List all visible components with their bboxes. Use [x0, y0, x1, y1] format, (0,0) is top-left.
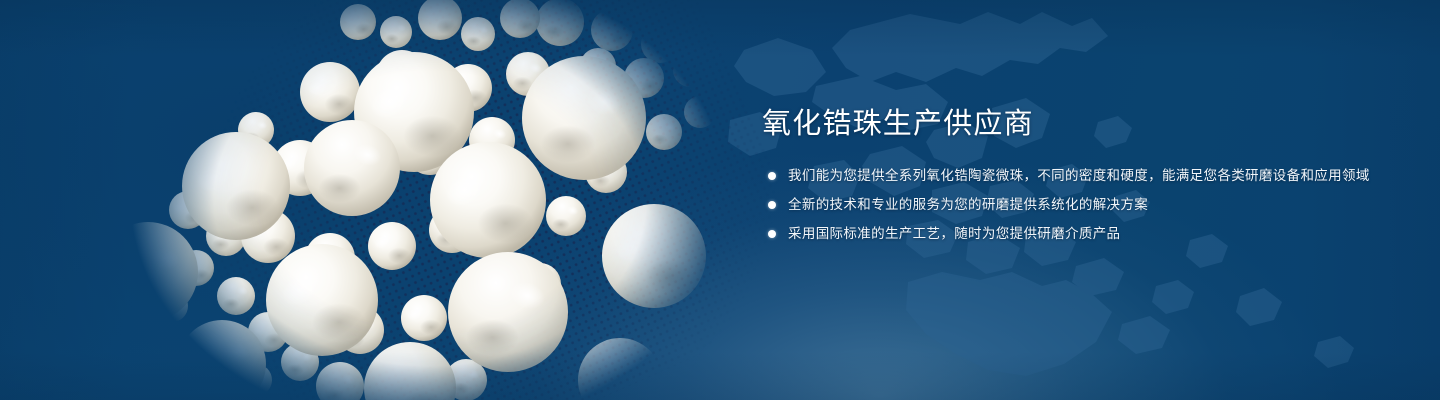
bullet-dot-icon — [768, 230, 776, 238]
bullet-dot-icon — [768, 172, 776, 180]
bullet-text: 采用国际标准的生产工艺，随时为您提供研磨介质产品 — [788, 222, 1382, 245]
bullet-dot-icon — [768, 201, 776, 209]
list-item: 采用国际标准的生产工艺，随时为您提供研磨介质产品 — [762, 222, 1382, 245]
bullet-text: 全新的技术和专业的服务为您的研磨提供系统化的解决方案 — [788, 193, 1382, 216]
banner-copy: 氧化锆珠生产供应商 我们能为您提供全系列氧化锆陶瓷微珠，不同的密度和硬度，能满足… — [762, 104, 1382, 245]
list-item: 全新的技术和专业的服务为您的研磨提供系统化的解决方案 — [762, 193, 1382, 216]
list-item: 我们能为您提供全系列氧化锆陶瓷微珠，不同的密度和硬度，能满足您各类研磨设备和应用… — [762, 164, 1382, 187]
banner-feature-list: 我们能为您提供全系列氧化锆陶瓷微珠，不同的密度和硬度，能满足您各类研磨设备和应用… — [762, 164, 1382, 245]
bullet-text: 我们能为您提供全系列氧化锆陶瓷微珠，不同的密度和硬度，能满足您各类研磨设备和应用… — [788, 164, 1382, 187]
hero-banner: 氧化锆珠生产供应商 我们能为您提供全系列氧化锆陶瓷微珠，不同的密度和硬度，能满足… — [0, 0, 1440, 400]
banner-headline: 氧化锆珠生产供应商 — [762, 104, 1382, 144]
